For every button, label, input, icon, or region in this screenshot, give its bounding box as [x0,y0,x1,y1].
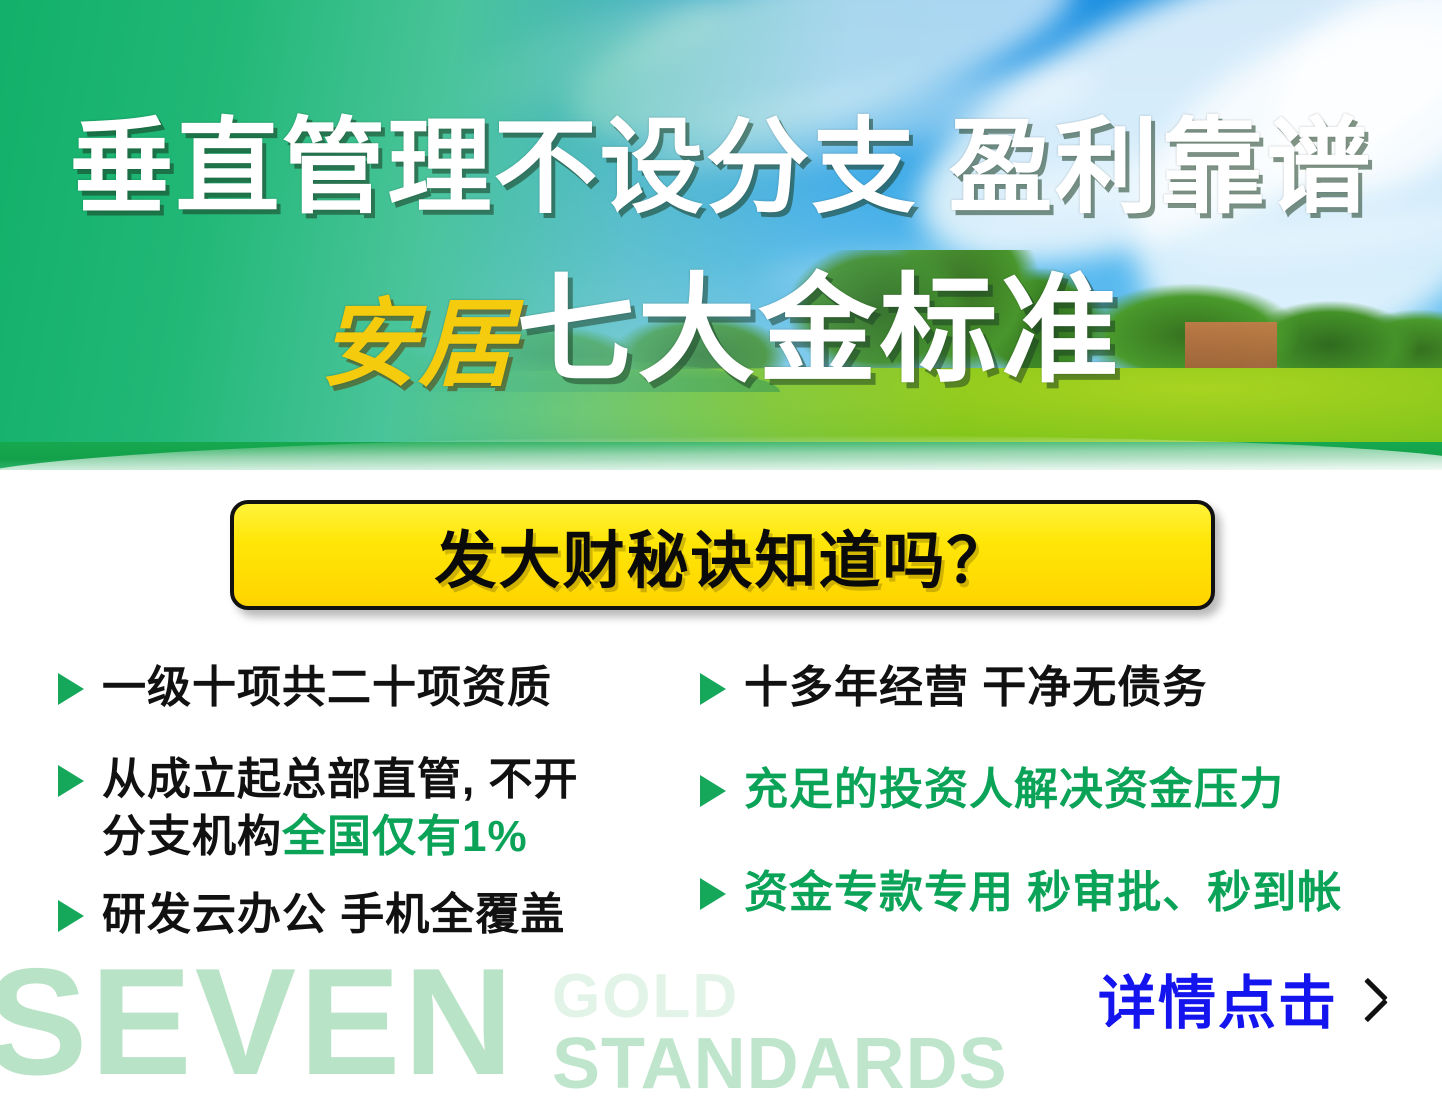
watermark-standards: STANDARDS [552,1028,1008,1100]
feature-text: 十多年经营 干净无债务 [744,660,1207,716]
feature-text: 资金专款专用 秒审批、秒到帐 [744,865,1342,921]
hero-subtitle: 安居七大金标准 [0,272,1442,393]
green-gradient-overlay [0,0,1442,470]
feature-column-right: 十多年经营 干净无债务 充足的投资人解决资金压力 资金专款专用 秒审批、秒到帐 [700,660,1400,967]
list-item: 从成立起总部直管, 不开 分支机构全国仅有1% [58,752,698,865]
feature-text: 研发云办公 手机全覆盖 [102,887,565,943]
triangle-bullet-icon [700,878,726,910]
triangle-bullet-icon [700,673,726,705]
list-item: 充足的投资人解决资金压力 [700,762,1400,818]
feature-text-highlight: 全国仅有1% [282,812,528,861]
triangle-bullet-icon [58,765,84,797]
list-item: 十多年经营 干净无债务 [700,660,1400,716]
list-item: 资金专款专用 秒审批、秒到帐 [700,865,1400,921]
details-cta-button[interactable]: 详情点击 [1098,956,1386,1040]
hero-subtitle-brand: 安居 [320,291,516,398]
feature-text: 从成立起总部直管, 不开 分支机构全国仅有1% [102,752,578,865]
list-item: 一级十项共二十项资质 [58,660,698,716]
feature-text: 一级十项共二十项资质 [102,660,552,716]
triangle-bullet-icon [58,900,84,932]
headline-banner-text: 发大财秘诀知道吗？ [434,510,1010,600]
hero-title: 垂直管理不设分支 盈利靠谱 [0,116,1442,220]
hero-subtitle-main: 七大金标准 [516,265,1121,397]
details-cta-label: 详情点击 [1098,956,1338,1040]
feature-text: 充足的投资人解决资金压力 [744,762,1284,818]
chevron-right-icon [1360,974,1386,1022]
feature-column-left: 一级十项共二十项资质 从成立起总部直管, 不开 分支机构全国仅有1% 研发云办公… [58,660,698,973]
triangle-bullet-icon [700,775,726,807]
hero-banner: 垂直管理不设分支 盈利靠谱 安居七大金标准 [0,0,1442,470]
feature-list: 一级十项共二十项资质 从成立起总部直管, 不开 分支机构全国仅有1% 研发云办公… [0,660,1442,990]
triangle-bullet-icon [58,673,84,705]
headline-banner[interactable]: 发大财秘诀知道吗？ [230,500,1215,610]
list-item: 研发云办公 手机全覆盖 [58,887,698,943]
